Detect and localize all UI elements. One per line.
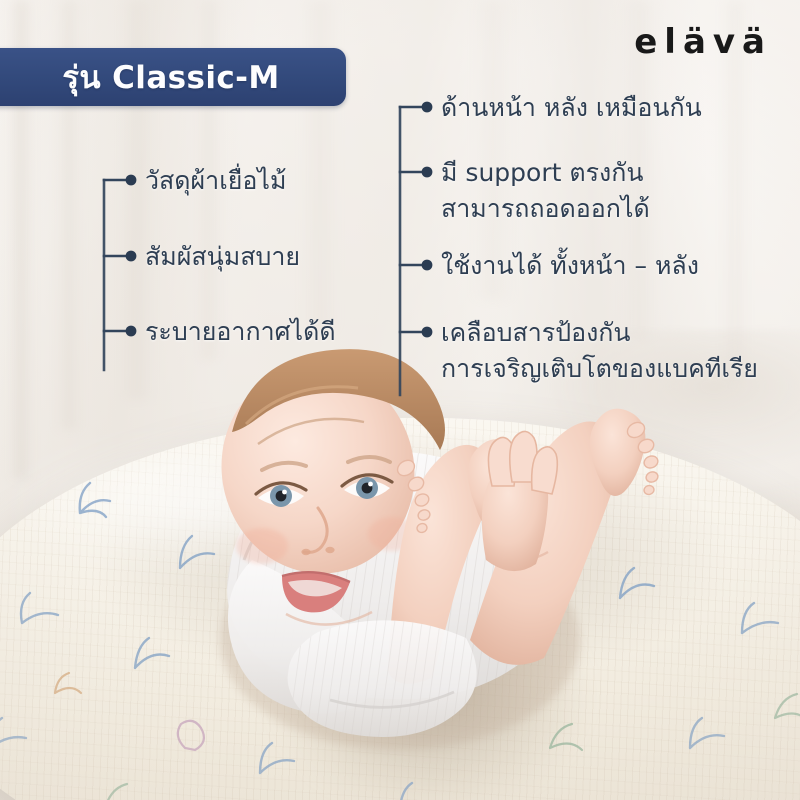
- brand-logo: elävä: [634, 22, 772, 62]
- feature-left-2: สัมผัสนุ่มสบาย: [145, 239, 300, 275]
- model-title-badge: รุ่น Classic-M: [0, 48, 346, 106]
- model-title-text: รุ่น Classic-M: [40, 52, 279, 102]
- product-infographic: รุ่น Classic-M elävä วัสดุผ้าเยื่อไม้ สั…: [0, 0, 800, 800]
- feature-right-1: ด้านหน้า หลัง เหมือนกัน: [441, 90, 702, 126]
- feature-left-1: วัสดุผ้าเยื่อไม้: [145, 163, 286, 199]
- feature-right-3: ใช้งานได้ ทั้งหน้า – หลัง: [441, 248, 699, 284]
- feature-right-2: มี support ตรงกัน สามารถถอดออกได้: [441, 155, 650, 227]
- feature-right-4: เคลือบสารป้องกัน การเจริญเติบโตของแบคทีเ…: [441, 315, 758, 387]
- feature-left-3: ระบายอากาศได้ดี: [145, 314, 336, 350]
